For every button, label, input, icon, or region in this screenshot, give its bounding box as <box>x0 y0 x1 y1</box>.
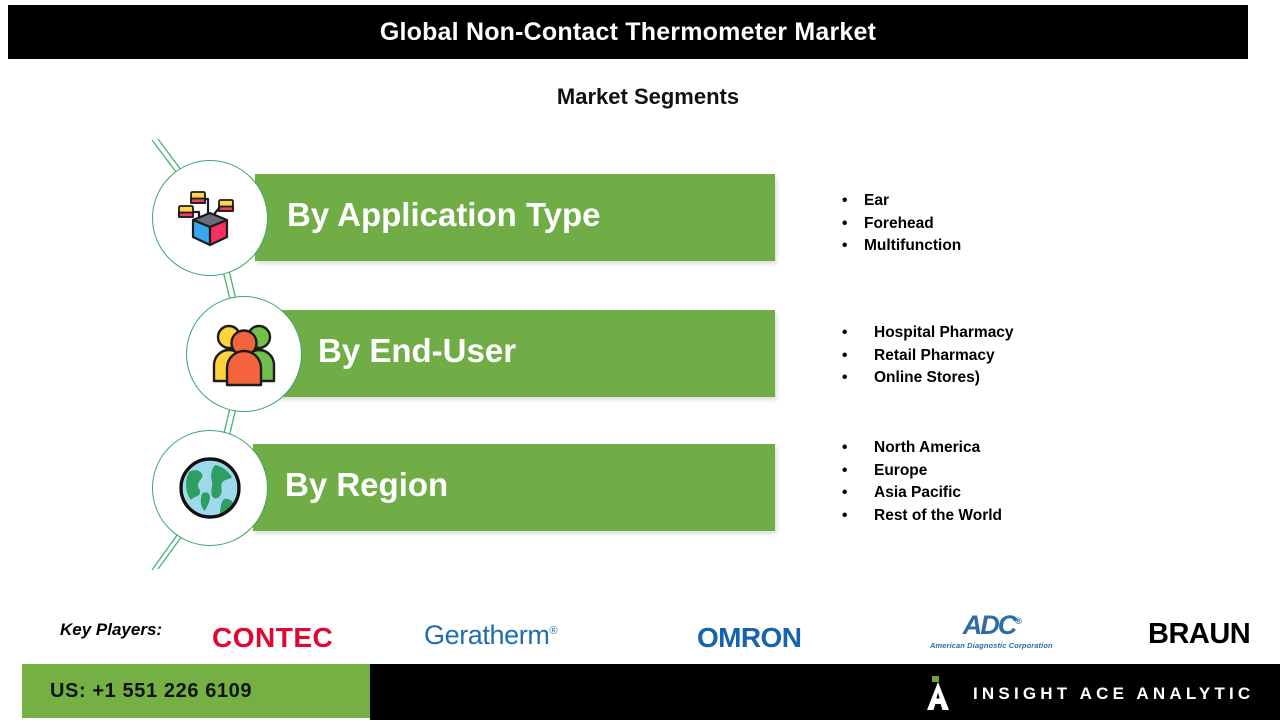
logo-adc-mark: ADC® <box>930 612 1053 639</box>
page-title: Global Non-Contact Thermometer Market <box>380 18 876 47</box>
bullet-dot: • <box>842 460 847 483</box>
list-item-label: Rest of the World <box>874 505 1002 528</box>
footer-phone-number[interactable]: US: +1 551 226 6109 <box>22 680 252 703</box>
segment-label-3: By Region <box>285 466 448 504</box>
list-item: • Ear <box>842 190 961 213</box>
bullet-list-2: • Hospital Pharmacy • Retail Pharmacy • … <box>842 322 1014 390</box>
bullet-dot: • <box>842 322 847 345</box>
bullet-dot: • <box>842 345 847 368</box>
list-item-label: Asia Pacific <box>874 482 961 505</box>
bullet-dot: • <box>842 367 847 390</box>
logo-braun: BRAUN <box>1148 618 1250 651</box>
list-item: • Rest of the World <box>842 505 1002 528</box>
segment-icon-circle-2[interactable] <box>186 296 302 412</box>
registered-icon: ® <box>549 625 557 637</box>
footer-brand-bar: INSIGHT ACE ANALYTIC <box>370 664 1280 720</box>
list-item: • Hospital Pharmacy <box>842 322 1014 345</box>
list-item-label: Hospital Pharmacy <box>874 322 1014 345</box>
people-group-icon <box>187 297 301 411</box>
bullet-dot: • <box>842 437 847 460</box>
logo-contec: CONTEC <box>212 622 333 654</box>
segment-bar-2[interactable]: By End-User <box>253 310 775 397</box>
list-item-label: Online Stores) <box>874 367 980 390</box>
logo-adc-text: ADC <box>963 610 1016 640</box>
logo-adc-subtitle: American Diagnostic Corporation <box>930 641 1053 650</box>
logo-geratherm: Geratherm® <box>424 620 557 651</box>
subtitle: Market Segments <box>0 84 1280 110</box>
segment-bar-3[interactable]: By Region <box>253 444 775 531</box>
bullet-dot: • <box>842 482 847 505</box>
list-item-label: Multifunction <box>864 235 961 258</box>
segment-bar-1[interactable]: By Application Type <box>255 174 775 261</box>
segment-icon-circle-3[interactable] <box>152 430 268 546</box>
list-item: • Online Stores) <box>842 367 1014 390</box>
list-item: • Asia Pacific <box>842 482 1002 505</box>
segment-label-2: By End-User <box>318 332 516 370</box>
logo-omron: OMRON <box>697 622 801 654</box>
insight-ace-a-mark-icon <box>925 676 951 712</box>
brand-logo[interactable]: INSIGHT ACE ANALYTIC <box>925 676 1254 712</box>
list-item-label: Europe <box>874 460 927 483</box>
bullet-dot: • <box>842 213 847 236</box>
list-item: • Multifunction <box>842 235 961 258</box>
globe-icon <box>153 431 267 545</box>
bullet-dot: • <box>842 235 847 258</box>
logo-geratherm-text: Geratherm <box>424 620 549 650</box>
bullet-list-3: • North America • Europe • Asia Pacific … <box>842 437 1002 527</box>
list-item-label: Retail Pharmacy <box>874 345 995 368</box>
bullet-dot: • <box>842 505 847 528</box>
list-item-label: Forehead <box>864 213 934 236</box>
segment-label-1: By Application Type <box>287 196 601 234</box>
registered-icon: ® <box>1015 616 1020 626</box>
list-item: • Forehead <box>842 213 961 236</box>
segment-icon-circle-1[interactable] <box>152 160 268 276</box>
brand-name: INSIGHT ACE ANALYTIC <box>973 684 1254 704</box>
footer-phone-bar: US: +1 551 226 6109 <box>22 664 370 718</box>
network-cube-icon <box>153 161 267 275</box>
list-item: • Europe <box>842 460 1002 483</box>
list-item: • North America <box>842 437 1002 460</box>
list-item-label: North America <box>874 437 980 460</box>
list-item: • Retail Pharmacy <box>842 345 1014 368</box>
logo-adc: ADC® American Diagnostic Corporation <box>930 612 1053 650</box>
bullet-dot: • <box>842 190 847 213</box>
key-players-label: Key Players: <box>60 620 162 640</box>
bullet-list-1: • Ear • Forehead • Multifunction <box>842 190 961 258</box>
infographic-canvas: Global Non-Contact Thermometer Market Ma… <box>0 0 1280 720</box>
header-bar: Global Non-Contact Thermometer Market <box>8 5 1248 59</box>
list-item-label: Ear <box>864 190 889 213</box>
